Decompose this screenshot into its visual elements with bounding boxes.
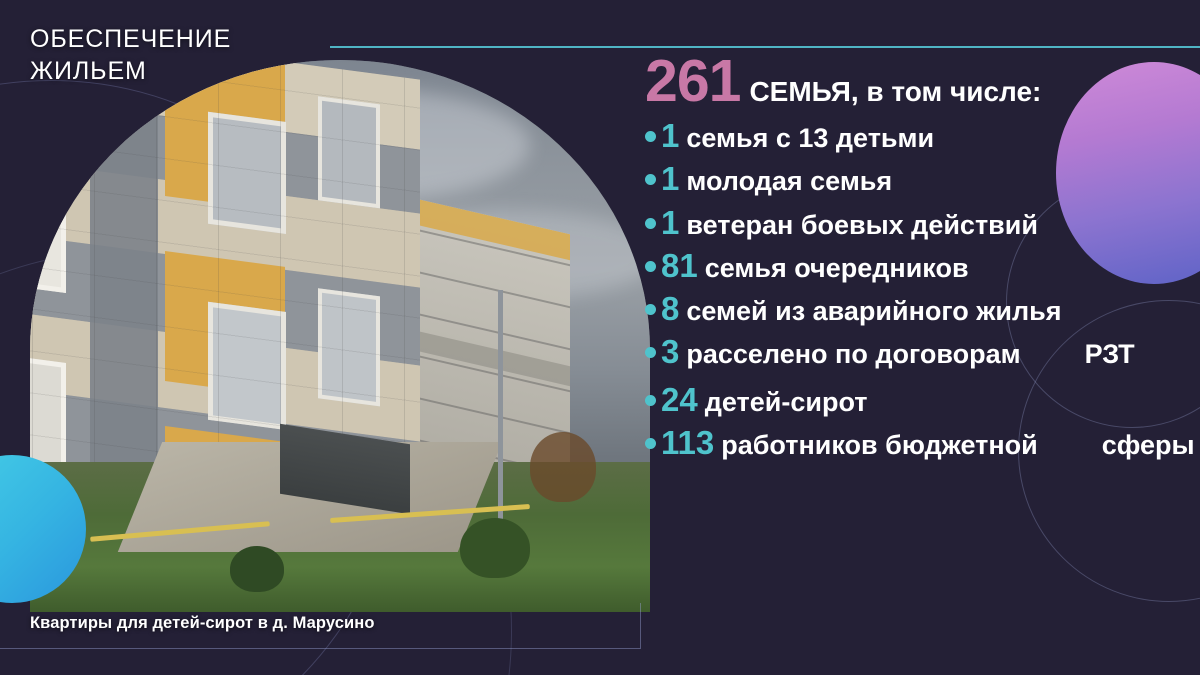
list-item-number: 1: [661, 204, 679, 242]
list-item: 3расселено по договорамРЗТ: [645, 333, 1193, 375]
photo-shrub: [460, 518, 530, 578]
bullet-dot-icon: [645, 395, 656, 406]
photo-lamppost: [498, 290, 503, 520]
list-item-number: 24: [661, 381, 698, 419]
list-item-text: детей-сирот: [705, 387, 868, 418]
list-item: 24детей-сирот: [645, 381, 1193, 419]
list-item-text: расселено по договорам: [686, 339, 1020, 370]
bullet-dot-icon: [645, 174, 656, 185]
statistics-list: 1семья с 13 детьми1молодая семья1ветеран…: [645, 117, 1193, 466]
list-item-text: молодая семья: [686, 166, 892, 197]
list-item-number: 1: [661, 160, 679, 198]
list-item-text-continuation: РЗТ: [1085, 339, 1135, 370]
list-item-text: семья с 13 детьми: [686, 123, 934, 154]
list-item-text: семья очередников: [705, 253, 969, 284]
list-item-text: ветеран боевых действий: [686, 210, 1038, 241]
list-item: 113работников бюджетнойсферы: [645, 424, 1193, 466]
header-rule-line: [330, 46, 1200, 48]
bullet-dot-icon: [645, 131, 656, 142]
list-item: 1семья с 13 детьми: [645, 117, 1193, 155]
bullet-dot-icon: [645, 218, 656, 229]
page-title: ОБЕСПЕЧЕНИЕ ЖИЛЬЕМ: [30, 24, 231, 88]
list-item-text: семей из аварийного жилья: [686, 296, 1061, 327]
list-item: 81семья очередников: [645, 247, 1193, 285]
page-title-line-2: ЖИЛЬЕМ: [30, 56, 231, 88]
page-title-line-1: ОБЕСПЕЧЕНИЕ: [30, 24, 231, 56]
list-item-text: работников бюджетной: [721, 430, 1037, 461]
list-item: 1ветеран боевых действий: [645, 204, 1193, 242]
list-item-text-continuation: сферы: [1102, 430, 1195, 461]
list-item-number: 81: [661, 247, 698, 285]
photo-shrub: [230, 546, 284, 592]
list-item: 1молодая семья: [645, 160, 1193, 198]
slide-root: ОБЕСПЕЧЕНИЕ ЖИЛЬЕМ Квартиры для детей-си…: [0, 0, 1200, 675]
list-item-number: 3: [661, 333, 679, 371]
bullet-dot-icon: [645, 304, 656, 315]
bullet-dot-icon: [645, 261, 656, 272]
list-item-number: 1: [661, 117, 679, 155]
photo-frame: [0, 0, 650, 612]
bullet-dot-icon: [645, 347, 656, 358]
headline: 261 СЕМЬЯ, в том числе:: [645, 52, 1193, 111]
photo-tree: [530, 432, 596, 502]
list-item-number: 113: [661, 424, 714, 462]
bullet-dot-icon: [645, 438, 656, 449]
list-item: 8семей из аварийного жилья: [645, 290, 1193, 328]
headline-number: 261: [645, 52, 740, 111]
building-photo: [30, 60, 650, 612]
list-item-number: 8: [661, 290, 679, 328]
photo-caption: Квартиры для детей-сирот в д. Марусино: [30, 614, 375, 633]
headline-label: СЕМЬЯ, в том числе:: [749, 78, 1041, 106]
statistics-panel: 261 СЕМЬЯ, в том числе: 1семья с 13 деть…: [645, 52, 1193, 471]
